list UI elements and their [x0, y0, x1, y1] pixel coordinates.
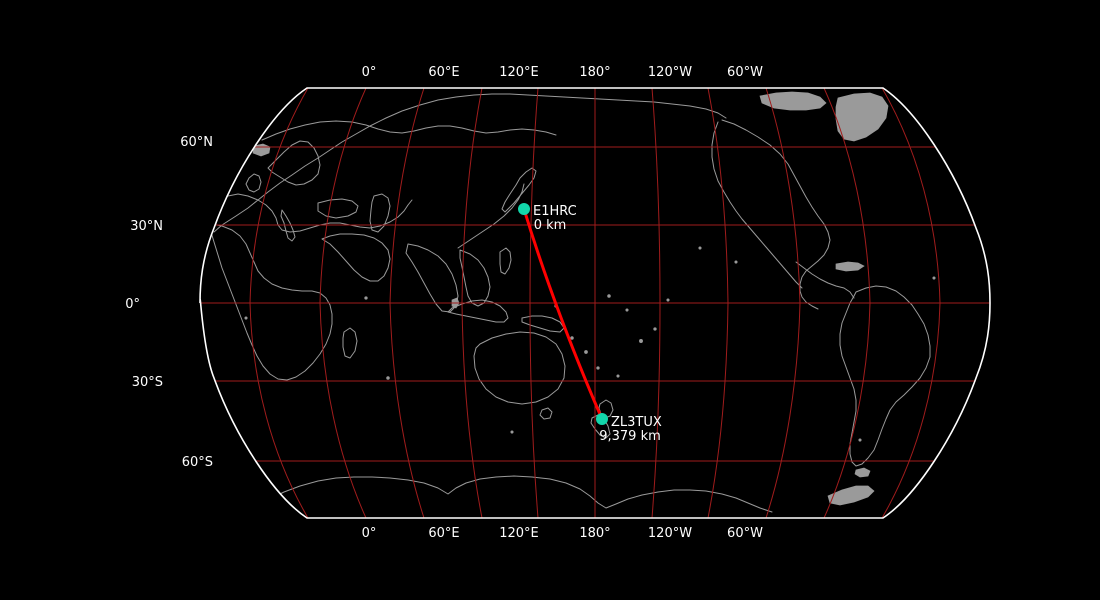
lat-tick: 60°S	[182, 455, 213, 470]
lon-tick-top: 180°	[579, 65, 610, 80]
island-dot	[699, 247, 701, 249]
lon-tick-bottom: 180°	[579, 526, 610, 541]
island-dot	[933, 277, 935, 279]
island-dot	[585, 351, 588, 354]
island-dot	[654, 328, 657, 331]
lon-tick-bottom: 60°E	[428, 526, 459, 541]
island-dot	[571, 337, 574, 340]
map-background	[0, 0, 1100, 600]
lat-tick: 60°N	[180, 135, 213, 150]
island-dot	[617, 375, 619, 377]
station-distance-label: 9,379 km	[599, 429, 661, 444]
station-marker-zl3tux[interactable]: ZL3TUX 9,379 km	[596, 413, 662, 444]
lon-tick-bottom: 120°E	[499, 526, 539, 541]
map-window: Robinson Projection PM95 to RE66HO (156°…	[0, 0, 1100, 600]
island-dot	[735, 261, 737, 263]
lon-tick-top: 120°W	[648, 65, 692, 80]
island-dot	[511, 431, 513, 433]
lon-tick-top: 60°E	[428, 65, 459, 80]
lon-tick-top: 60°W	[727, 65, 763, 80]
station-dot[interactable]	[596, 413, 608, 425]
island-dot	[387, 377, 390, 380]
robinson-projection-map[interactable]: E1HRC 0 km ZL3TUX 9,379 km 0° 60°E 120°E…	[0, 0, 1100, 600]
station-dot[interactable]	[518, 203, 530, 215]
station-distance-label: 0 km	[534, 218, 567, 233]
lon-tick-top: 120°E	[499, 65, 539, 80]
lon-tick-bottom: 0°	[362, 526, 377, 541]
island-dot	[639, 339, 642, 342]
station-callsign-label: E1HRC	[533, 204, 577, 219]
lat-tick: 30°N	[130, 219, 163, 234]
lon-tick-bottom: 120°W	[648, 526, 692, 541]
island-dot	[608, 295, 611, 298]
island-dot	[365, 297, 368, 300]
island-dot	[626, 309, 628, 311]
lat-tick: 30°S	[132, 375, 163, 390]
island-dot	[597, 367, 600, 370]
island-dot	[245, 317, 247, 319]
island-dot	[859, 439, 861, 441]
station-callsign-label: ZL3TUX	[611, 415, 662, 430]
island-dot	[667, 299, 669, 301]
lat-tick: 0°	[125, 297, 140, 312]
lon-tick-top: 0°	[362, 65, 377, 80]
lon-tick-bottom: 60°W	[727, 526, 763, 541]
